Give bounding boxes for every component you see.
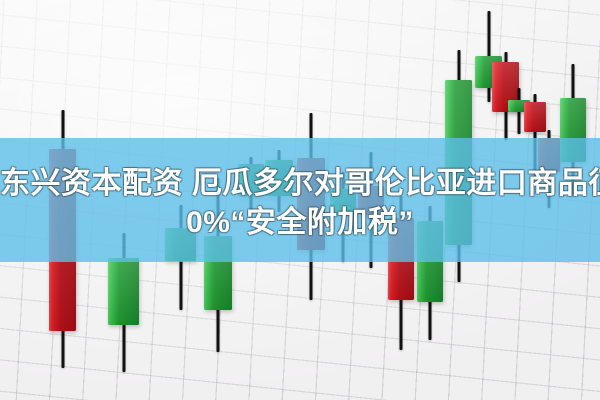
candle-1 xyxy=(108,233,139,372)
cover-image: 东兴资本配资 厄瓜多尔对哥伦比亚进口商品征收3 0%“安全附加税” xyxy=(0,0,600,400)
headline-line-1: 东兴资本配资 厄瓜多尔对哥伦比亚进口商品征收3 xyxy=(0,166,600,202)
candle-body-up xyxy=(204,236,232,310)
candle-body-up xyxy=(560,98,586,162)
candle-body-up xyxy=(108,258,139,325)
candle-body-down xyxy=(524,102,546,132)
headline-line-2: 0%“安全附加税” xyxy=(0,205,600,241)
